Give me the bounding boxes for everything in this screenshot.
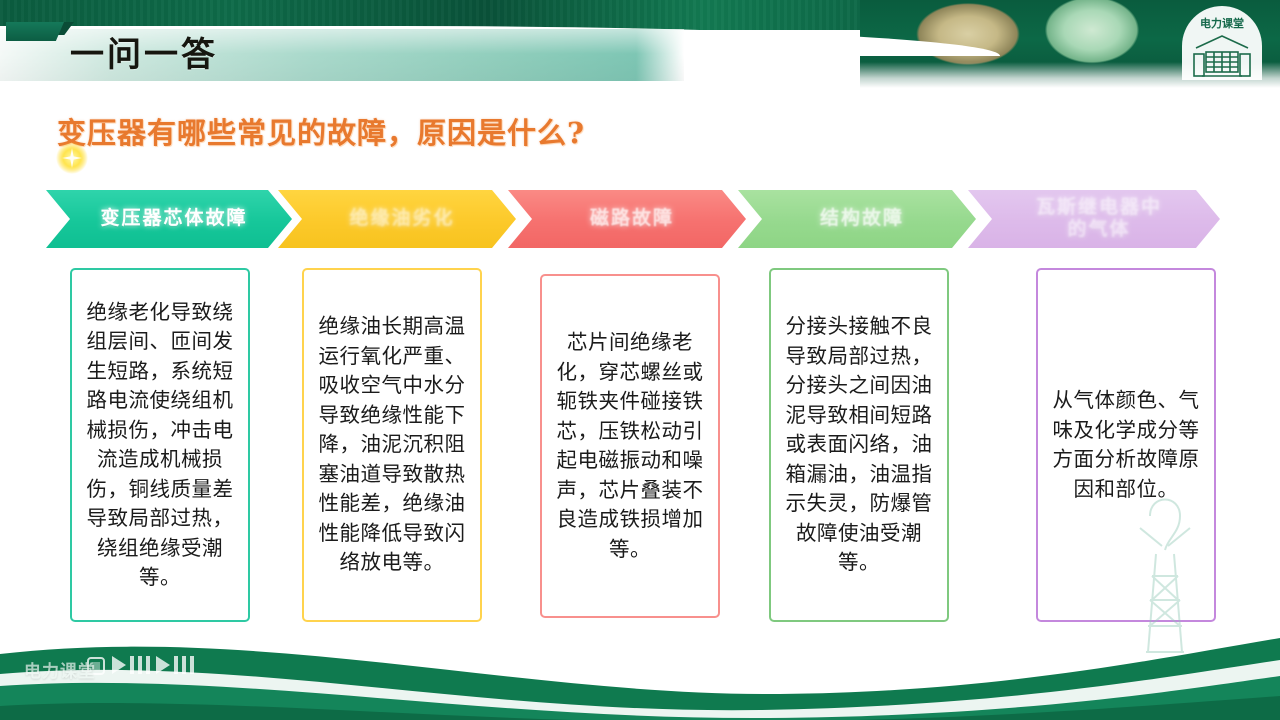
- arrow-step-2[interactable]: 绝缘油劣化: [278, 190, 516, 248]
- watermark-channel-name: 电力课堂: [24, 657, 96, 682]
- arrow-step-5-label: 瓦斯继电器中的气体: [1036, 197, 1162, 241]
- content-box-1-text: 绝缘老化导致绕组层间、匝间发生短路，系统短路电流使绕组机械损伤，冲击电流造成机械…: [80, 298, 240, 593]
- arrow-step-1[interactable]: 变压器芯体故障: [46, 190, 292, 248]
- arrow-step-4[interactable]: 结构故障: [738, 190, 976, 248]
- content-box-4-text: 分接头接触不良导致局部过热，分接头之间因油泥导致相间短路或表面闪络，油箱漏油，油…: [779, 312, 939, 578]
- bilibili-watermark: 电力课堂: [22, 646, 222, 688]
- arrow-step-5[interactable]: 瓦斯继电器中的气体: [968, 190, 1220, 248]
- content-box-3-text: 芯片间绝缘老化，穿芯螺丝或轭铁夹件碰接铁芯，压铁松动引起电磁振动和噪声，芯片叠装…: [550, 328, 710, 564]
- content-box-4: 分接头接触不良导致局部过热，分接头之间因油泥导致相间短路或表面闪络，油箱漏油，油…: [769, 268, 949, 622]
- ribbon-tab-icon: [6, 22, 64, 41]
- arrow-step-3-label: 磁路故障: [590, 208, 674, 230]
- arrow-banner: 变压器芯体故障 绝缘油劣化 磁路故障 结构故障 瓦斯继电器中的气体: [46, 190, 1236, 248]
- arrow-step-4-label: 结构故障: [820, 208, 904, 230]
- arrow-step-3[interactable]: 磁路故障: [508, 190, 746, 248]
- slide-canvas: 电力课堂 一问一答 变压器有哪些常见的故障，原因是什么? 变压器芯体故障 绝缘油…: [0, 0, 1280, 720]
- logo-text: 电力课堂: [1200, 16, 1244, 30]
- content-box-2-text: 绝缘油长期高温运行氧化严重、吸收空气中水分导致绝缘性能下降，油泥沉积阻塞油道导致…: [312, 312, 472, 578]
- content-box-2: 绝缘油长期高温运行氧化严重、吸收空气中水分导致绝缘性能下降，油泥沉积阻塞油道导致…: [302, 268, 482, 622]
- content-box-row: 绝缘老化导致绕组层间、匝间发生短路，系统短路电流使绕组机械损伤，冲击电流造成机械…: [46, 268, 1236, 628]
- arrow-step-2-label: 绝缘油劣化: [349, 208, 454, 230]
- content-box-3: 芯片间绝缘老化，穿芯螺丝或轭铁夹件碰接铁芯，压铁松动引起电磁振动和噪声，芯片叠装…: [540, 274, 720, 618]
- arrow-step-1-label: 变压器芯体故障: [100, 208, 247, 230]
- question-heading: 变压器有哪些常见的故障，原因是什么?: [57, 110, 585, 152]
- page-title: 一问一答: [70, 32, 218, 78]
- school-building-logo: 电力课堂: [1176, 2, 1268, 84]
- yellow-sparkle-cursor: [55, 141, 89, 175]
- content-box-1: 绝缘老化导致绕组层间、匝间发生短路，系统短路电流使绕组机械损伤，冲击电流造成机械…: [70, 268, 250, 622]
